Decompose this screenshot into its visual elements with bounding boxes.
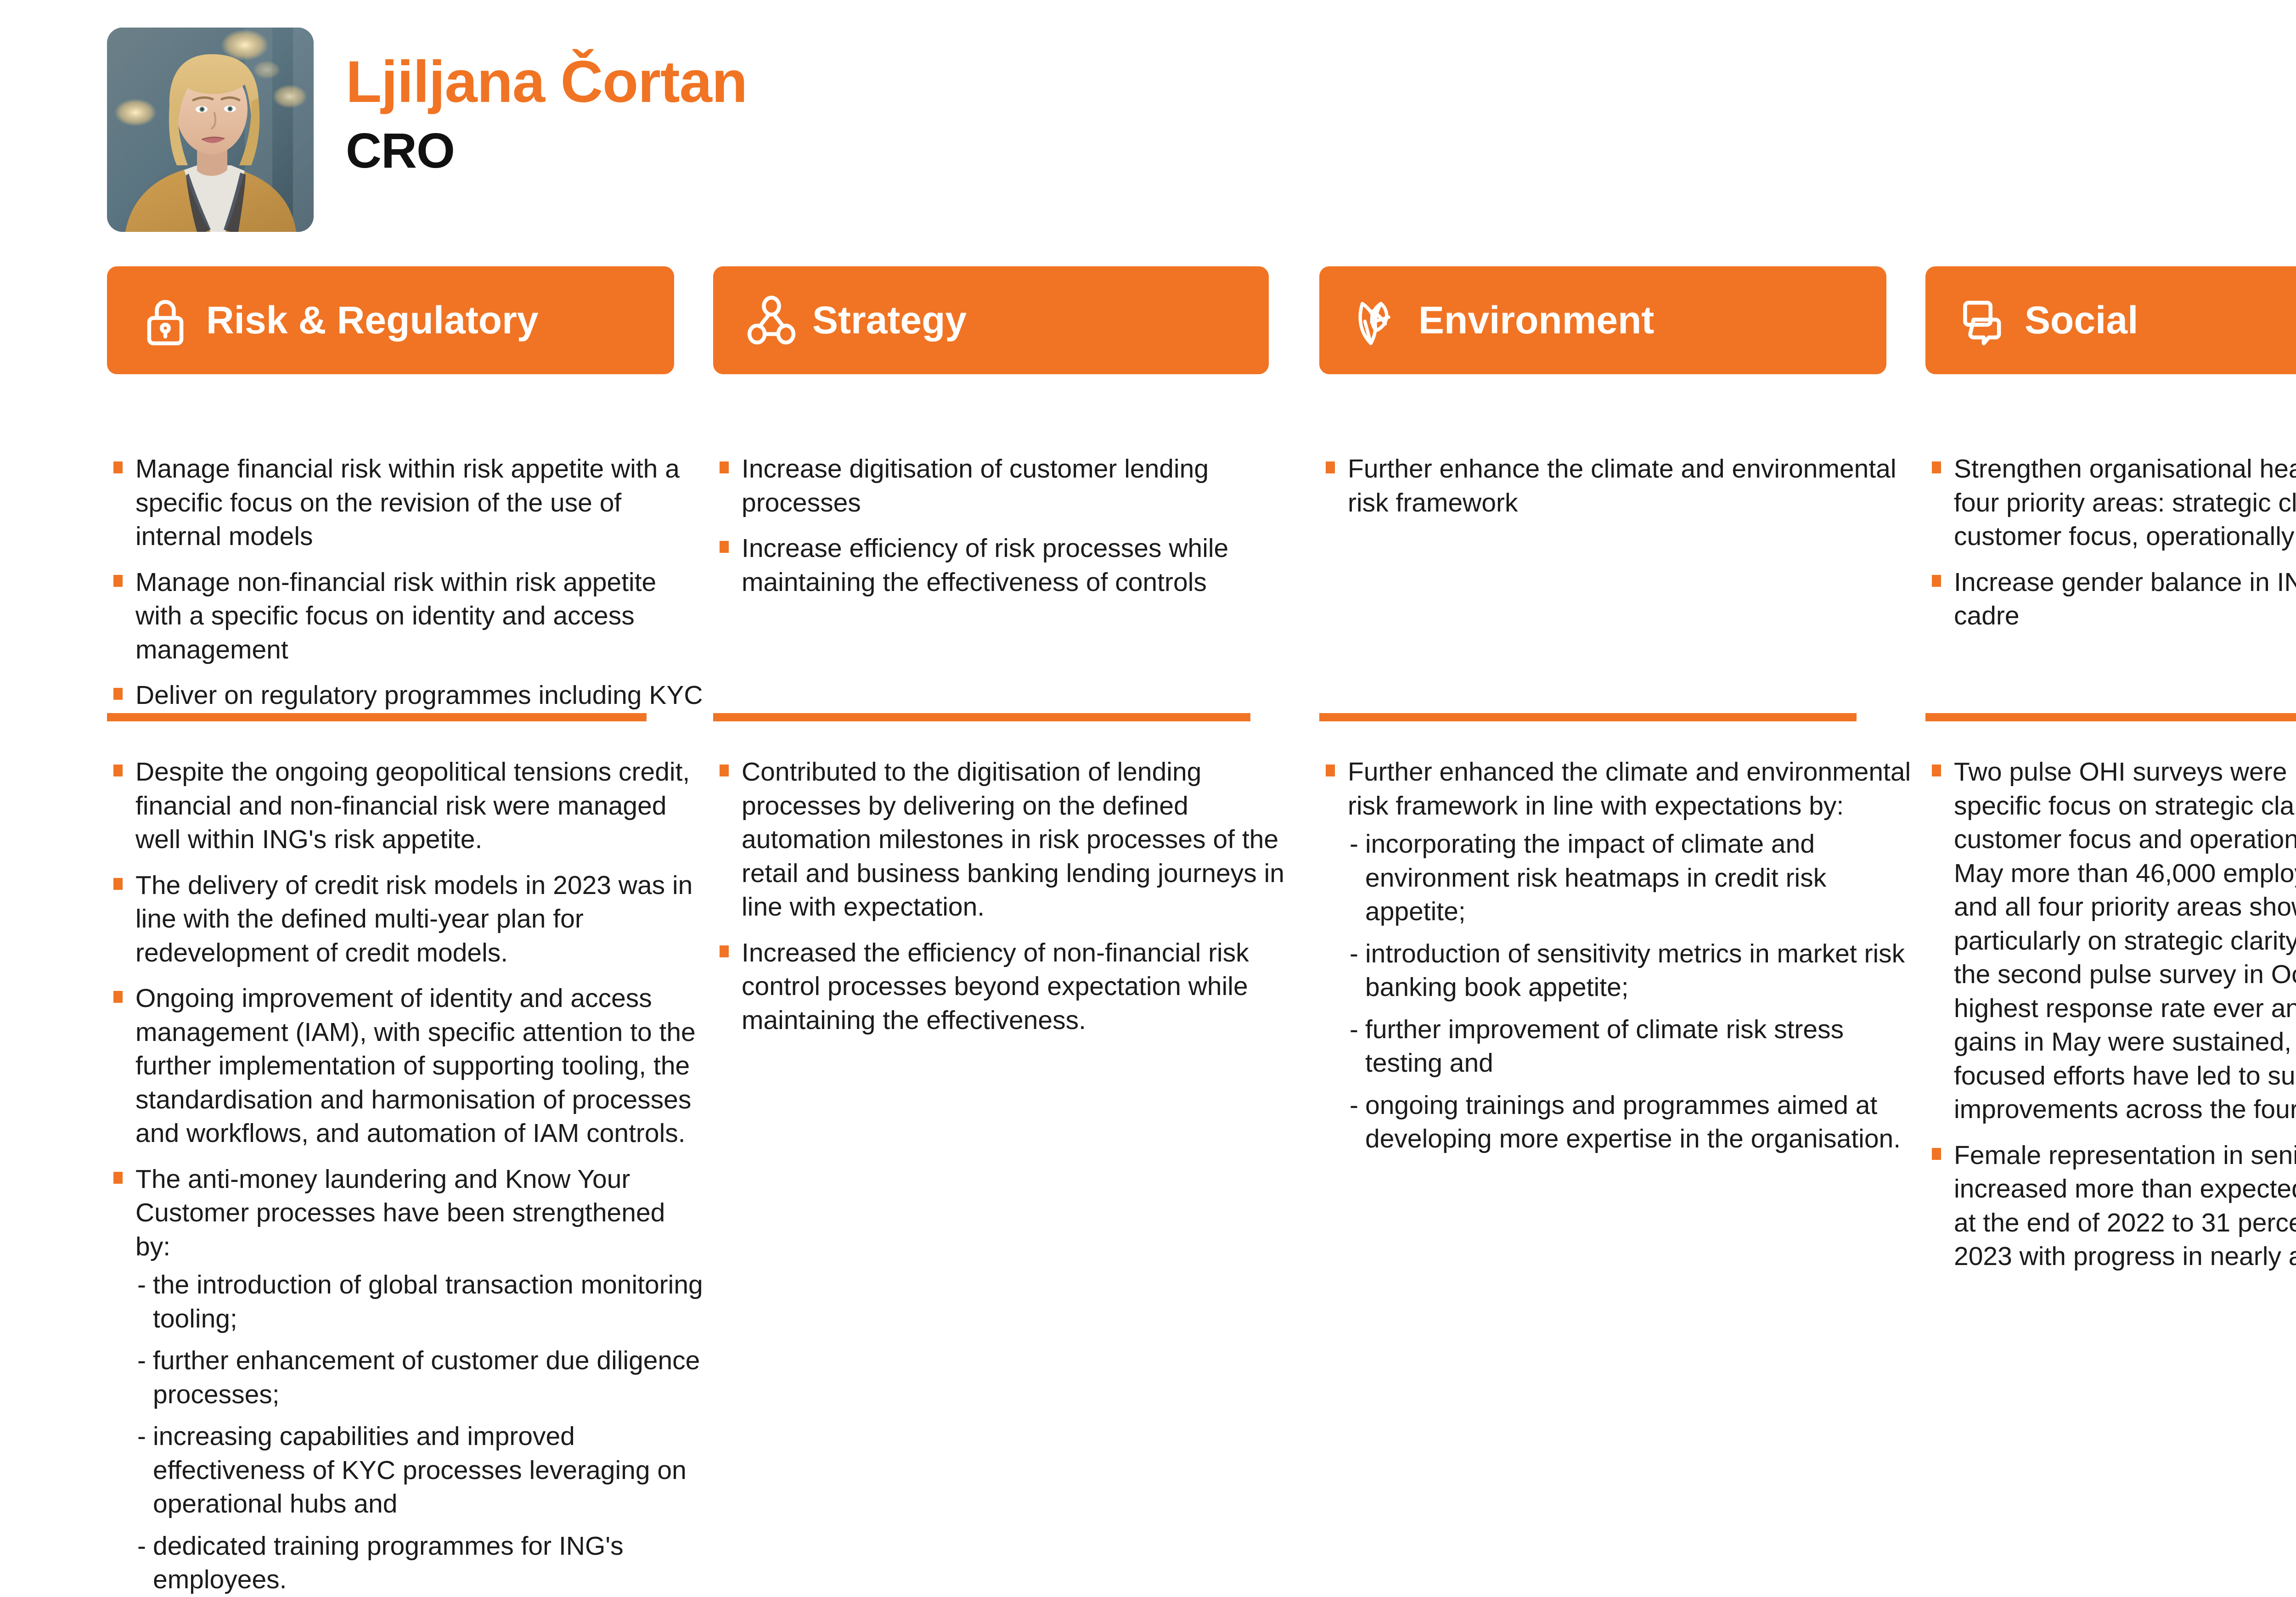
list-item-text: Manage financial risk within risk appeti… (135, 454, 680, 551)
sub-list: the introduction of global transaction m… (135, 1268, 706, 1597)
achievements-social: Two pulse OHI surveys were held in 2023 … (1925, 755, 2296, 1274)
list-item: Further enhanced the climate and environ… (1319, 755, 1919, 1156)
sub-list-item: increasing capabilities and improved eff… (135, 1420, 706, 1521)
list-item-text: Female representation in senior manageme… (1954, 1141, 2296, 1271)
category-card-environment[interactable]: Environment (1319, 266, 1886, 374)
list-item: Deliver on regulatory programmes includi… (107, 679, 706, 713)
priorities-environment: Further enhance the climate and environm… (1319, 452, 1919, 520)
achievements-list: Contributed to the digitisation of lendi… (713, 755, 1312, 1037)
priorities-list: Manage financial risk within risk appeti… (107, 452, 706, 713)
list-item-text: Manage non-financial risk within risk ap… (135, 568, 656, 664)
achievements-environment: Further enhanced the climate and environ… (1319, 755, 1919, 1156)
list-item-text: Increase digitisation of customer lendin… (742, 454, 1209, 517)
list-item: Further enhance the climate and environm… (1319, 452, 1919, 520)
list-item-text: Increase gender balance in ING's leaders… (1954, 568, 2296, 631)
priorities-list: Further enhance the climate and environm… (1319, 452, 1919, 520)
list-item: Female representation in senior manageme… (1925, 1139, 2296, 1274)
list-item: The anti-money laundering and Know Your … (107, 1163, 706, 1597)
section-divider (1319, 713, 1857, 721)
leaf-icon (1343, 286, 1412, 355)
executive-scorecard-page: Ljiljana Čortan CRO Risk & Regulatory (0, 0, 2296, 1584)
sub-list: incorporating the impact of climate and … (1348, 827, 1919, 1156)
list-item-text: Further enhanced the climate and environ… (1348, 757, 1911, 821)
section-divider (1925, 713, 2296, 721)
sub-list-item: the introduction of global transaction m… (135, 1268, 706, 1336)
priorities-risk-regulatory: Manage financial risk within risk appeti… (107, 452, 706, 713)
list-item: Manage non-financial risk within risk ap… (107, 566, 706, 667)
sub-list-item: incorporating the impact of climate and … (1348, 827, 1919, 929)
page-title: Ljiljana Čortan (346, 53, 747, 112)
list-item: Manage financial risk within risk appeti… (107, 452, 706, 554)
priorities-social: Strengthen organisational health with a … (1925, 452, 2296, 633)
list-item-text: Despite the ongoing geopolitical tension… (135, 757, 690, 854)
list-item: Increased the efficiency of non-financia… (713, 936, 1312, 1038)
category-card-social[interactable]: Social (1925, 266, 2296, 374)
sub-list-item: dedicated training programmes for ING's … (135, 1530, 706, 1597)
list-item-text: Increased the efficiency of non-financia… (742, 938, 1249, 1035)
section-divider (713, 713, 1250, 721)
list-item: The delivery of credit risk models in 20… (107, 869, 706, 970)
list-item-text: Ongoing improvement of identity and acce… (135, 984, 696, 1148)
category-card-strategy[interactable]: Strategy (713, 266, 1269, 374)
priorities-strategy: Increase digitisation of customer lendin… (713, 452, 1312, 599)
priorities-list: Increase digitisation of customer lendin… (713, 452, 1312, 599)
list-item: Increase digitisation of customer lendin… (713, 452, 1312, 520)
achievements-list: Two pulse OHI surveys were held in 2023 … (1925, 755, 2296, 1274)
sub-list-item: further improvement of climate risk stre… (1348, 1013, 1919, 1080)
padlock-icon (131, 286, 200, 355)
list-item-text: Two pulse OHI surveys were held in 2023 … (1954, 757, 2296, 1124)
list-item: Despite the ongoing geopolitical tension… (107, 755, 706, 857)
sub-list-item: introduction of sensitivity metrics in m… (1348, 937, 1919, 1005)
achievements-risk-regulatory: Despite the ongoing geopolitical tension… (107, 755, 706, 1597)
list-item: Ongoing improvement of identity and acce… (107, 982, 706, 1151)
list-item: Strengthen organisational health with a … (1925, 452, 2296, 554)
card-title: Environment (1418, 298, 1654, 343)
category-card-risk-regulatory[interactable]: Risk & Regulatory (107, 266, 674, 374)
category-cards: Risk & Regulatory Strategy (0, 266, 2296, 381)
list-item-text: The delivery of credit risk models in 20… (135, 871, 692, 967)
list-item-text: Strengthen organisational health with a … (1954, 454, 2296, 551)
achievements-list: Despite the ongoing geopolitical tension… (107, 755, 706, 1597)
list-item: Increase efficiency of risk processes wh… (713, 532, 1312, 599)
executive-role: CRO (346, 124, 747, 176)
list-item: Contributed to the digitisation of lendi… (713, 755, 1312, 924)
achievements-list: Further enhanced the climate and environ… (1319, 755, 1919, 1156)
list-item-text: The anti-money laundering and Know Your … (135, 1164, 665, 1261)
sub-list-item: ongoing trainings and programmes aimed a… (1348, 1089, 1919, 1156)
card-title: Strategy (812, 298, 967, 343)
list-item-text: Contributed to the digitisation of lendi… (742, 757, 1284, 922)
avatar (107, 28, 314, 232)
portrait-image (107, 28, 314, 232)
list-item-text: Increase efficiency of risk processes wh… (742, 534, 1228, 597)
achievements-strategy: Contributed to the digitisation of lendi… (713, 755, 1312, 1037)
list-item-text: Deliver on regulatory programmes includi… (135, 680, 703, 710)
list-item: Two pulse OHI surveys were held in 2023 … (1925, 755, 2296, 1127)
name-block: Ljiljana Čortan CRO (346, 53, 747, 176)
priorities-list: Strengthen organisational health with a … (1925, 452, 2296, 633)
network-nodes-icon (737, 286, 806, 355)
list-item: Increase gender balance in ING's leaders… (1925, 566, 2296, 633)
chat-bubbles-icon (1949, 286, 2018, 355)
card-title: Risk & Regulatory (206, 298, 539, 343)
card-title: Social (2025, 298, 2138, 343)
section-divider (107, 713, 647, 721)
sub-list-item: further enhancement of customer due dili… (135, 1344, 706, 1411)
list-item-text: Further enhance the climate and environm… (1348, 454, 1896, 517)
